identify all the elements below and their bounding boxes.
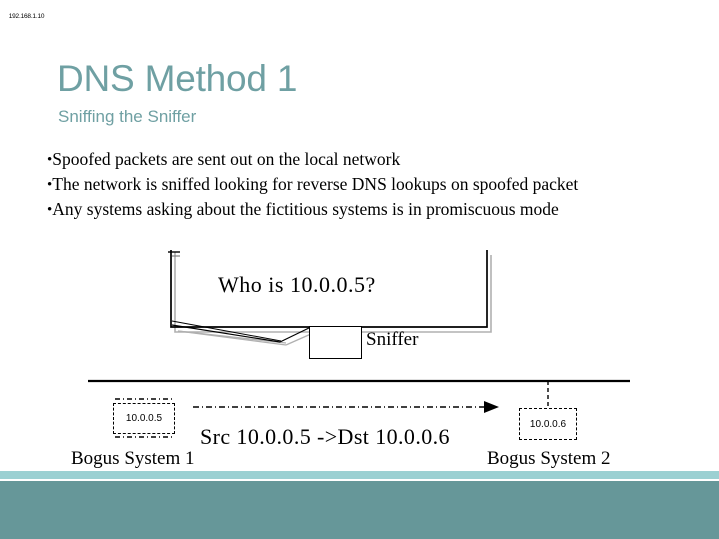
footer-bar: @stake Securing the Internet Economy℠ xyxy=(0,481,719,539)
bullet-item: •The network is sniffed looking for reve… xyxy=(47,172,697,197)
host2-name-label: Bogus System 2 xyxy=(487,448,611,470)
slide: DNS Method 1 Sniffing the Sniffer •Spoof… xyxy=(0,0,719,539)
bullet-text: Any systems asking about the fictitious … xyxy=(52,199,559,219)
host2-ip-label: 10.0.0.6 xyxy=(519,408,577,440)
sniffer-node-box xyxy=(309,326,362,359)
bullet-item: •Any systems asking about the fictitious… xyxy=(47,197,697,222)
packet-annotation-label: Src 10.0.0.5 ->Dst 10.0.0.6 xyxy=(200,424,450,450)
sniffer-name-label: Sniffer xyxy=(366,329,418,351)
bullet-text: The network is sniffed looking for rever… xyxy=(52,174,578,194)
host1-name-label: Bogus System 1 xyxy=(71,448,195,470)
footer-accent-strip xyxy=(0,471,719,479)
host1-ip-label: 10.0.0.5 xyxy=(113,403,175,434)
sniffer-ip-label: 192.168.1.10 xyxy=(0,0,53,33)
bullet-list: •Spoofed packets are sent out on the loc… xyxy=(47,147,697,222)
page-title: DNS Method 1 xyxy=(57,58,297,100)
bullet-text: Spoofed packets are sent out on the loca… xyxy=(52,149,400,169)
callout-question-text: Who is 10.0.0.5? xyxy=(218,272,376,298)
page-subtitle: Sniffing the Sniffer xyxy=(58,107,196,127)
bullet-item: •Spoofed packets are sent out on the loc… xyxy=(47,147,697,172)
